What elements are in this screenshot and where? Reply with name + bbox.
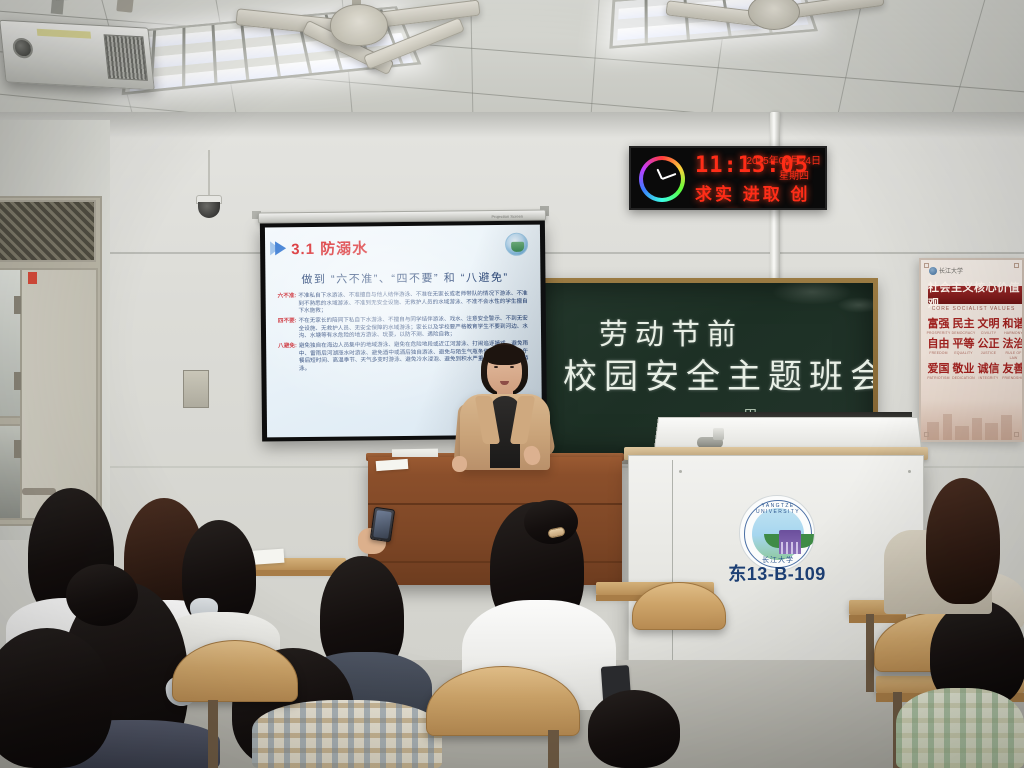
blackboard-line-1: 劳动节前 bbox=[599, 311, 743, 353]
door-transom-grille bbox=[0, 200, 96, 262]
door-glass-lower bbox=[0, 424, 22, 520]
analog-clock-icon bbox=[639, 156, 685, 202]
led-date: 2025年04月24日 bbox=[747, 152, 822, 167]
value-cell: 敬业DEDICATION bbox=[951, 362, 976, 381]
poster-heading-en: CORE SOCIALIST VALUES bbox=[921, 306, 1024, 312]
door-notice bbox=[28, 272, 37, 284]
value-cell: 平等EQUALITY bbox=[951, 337, 976, 361]
value-cell: 富强PROSPERITY bbox=[926, 317, 951, 336]
value-cell: 友善FRIENDSHIP bbox=[1001, 362, 1024, 381]
led-motto: 求实 进取 创业 报国 bbox=[695, 180, 825, 210]
school-emblem-icon bbox=[505, 233, 528, 256]
camera-wire bbox=[208, 150, 210, 198]
projector-lens bbox=[12, 37, 34, 58]
led-clock-display: 11:13:05 求实 进取 创业 报国 2025年04月24日 星期四 bbox=[629, 146, 827, 210]
slide-chevron-icon bbox=[275, 241, 286, 255]
classroom-door[interactable] bbox=[20, 268, 98, 520]
value-cell: 公正JUSTICE bbox=[976, 337, 1001, 361]
value-cell: 诚信INTEGRITY bbox=[976, 362, 1001, 381]
blackboard-line-2: 校园安全主题班会 bbox=[563, 349, 873, 398]
classroom-photo: 11:13:05 求实 进取 创业 报国 2025年04月24日 星期四 劳动节… bbox=[0, 0, 1024, 768]
slide-title: 3.1 防溺水 bbox=[291, 237, 368, 259]
value-cell: 爱国PATRIOTISM bbox=[926, 362, 951, 381]
value-cell: 和谐HARMONY bbox=[1001, 317, 1024, 336]
slide-bullet: 四不要: 不在无家长的陪同下私自下水游泳、不擅自与同学结伴游泳、戏水、注意安全警… bbox=[278, 316, 531, 341]
value-cell: 法治RULE OF LAW bbox=[1001, 337, 1024, 361]
poster-skyline-graphic bbox=[921, 400, 1024, 440]
door-glass-upper bbox=[0, 268, 22, 418]
console-switch[interactable] bbox=[713, 428, 724, 440]
values-grid: 富强PROSPERITY 民主DEMOCRACY 文明CIVILITY 和谐HA… bbox=[926, 317, 1024, 381]
core-socialist-values-poster: 长江大学 社会主义核心价值观 CORE SOCIALIST VALUES 富强P… bbox=[919, 258, 1024, 442]
wall-electrical-panel bbox=[183, 370, 209, 408]
slide-bullet: 六不准: 不准私自下水游泳、不准擅自与他人结伴游泳、不准在无家长或老师带队的情况… bbox=[278, 291, 531, 316]
value-cell: 自由FREEDOM bbox=[926, 337, 951, 361]
value-cell: 民主DEMOCRACY bbox=[951, 317, 976, 336]
ceiling-projector bbox=[0, 20, 155, 91]
presenter-hand bbox=[452, 456, 467, 472]
room-number: 东13-B-109 bbox=[717, 560, 837, 586]
console-lid bbox=[654, 417, 922, 450]
university-emblem-icon bbox=[929, 267, 937, 275]
poster-heading: 社会主义核心价值观 bbox=[928, 286, 1024, 304]
poster-university-mark: 长江大学 bbox=[929, 266, 963, 275]
ceiling-fan bbox=[330, 4, 388, 46]
value-cell: 文明CIVILITY bbox=[976, 317, 1001, 336]
projector-vent bbox=[104, 34, 148, 81]
led-weekday: 星期四 bbox=[779, 167, 809, 182]
slide-subtitle: 做到 “六不准”、“四不要” 和 “八避免” bbox=[301, 269, 508, 287]
logo-text-en: YANGTZE UNIVERSITY bbox=[740, 503, 815, 515]
